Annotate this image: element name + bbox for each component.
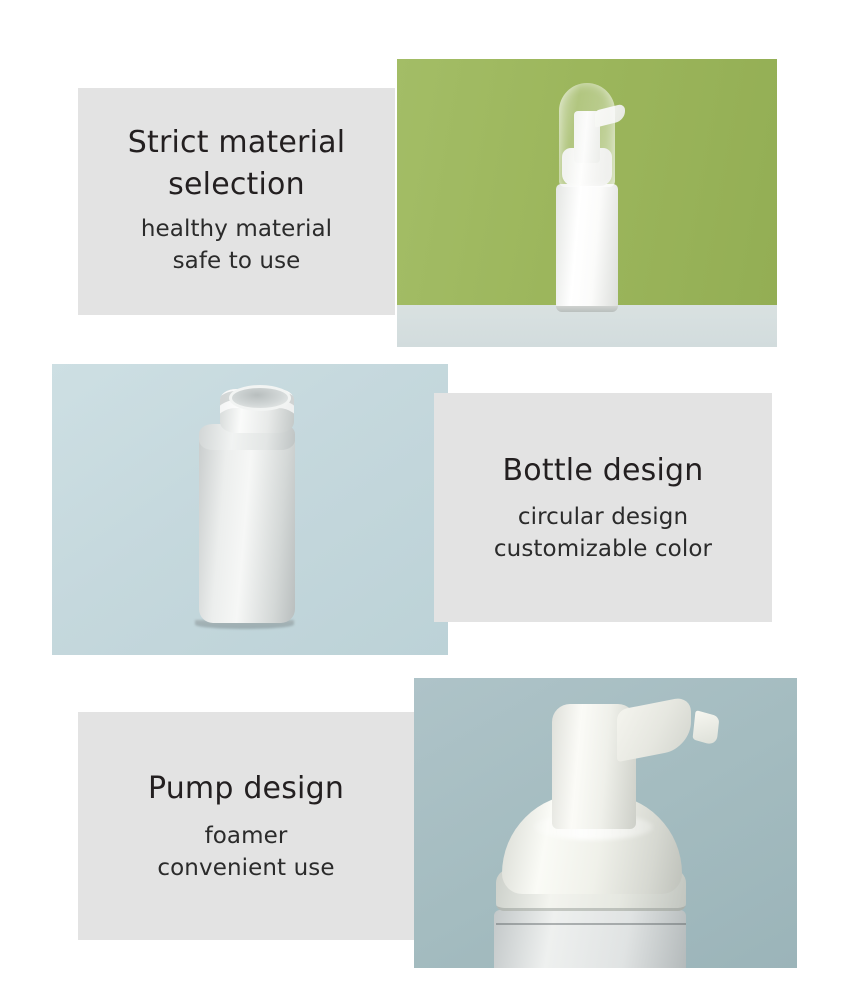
product-photo-foamer-bottle-green-background bbox=[397, 59, 777, 347]
feature-card-strict-material-selection: Strict material selection healthy materi… bbox=[78, 88, 395, 315]
photo3-seam-line bbox=[496, 923, 686, 925]
photo3-bottle-top bbox=[494, 910, 686, 968]
photo1-clear-overcap bbox=[559, 83, 615, 187]
feature-headline: Bottle design bbox=[503, 450, 704, 493]
feature-subline: healthy material bbox=[141, 213, 332, 245]
photo3-spout-opening bbox=[692, 710, 719, 746]
feature-subline: customizable color bbox=[494, 533, 712, 565]
photo1-bottle-base bbox=[556, 306, 618, 312]
feature-subline: circular design bbox=[518, 501, 688, 533]
feature-headline: Strict material selection bbox=[128, 122, 345, 207]
infographic-stage: Strict material selection healthy materi… bbox=[0, 0, 850, 1000]
photo2-bottle-opening bbox=[229, 385, 291, 411]
feature-subline: convenient use bbox=[157, 852, 334, 884]
product-photo-open-bottle-body-blue-background bbox=[52, 364, 448, 655]
product-photo-foamer-pump-head-closeup bbox=[414, 678, 797, 968]
photo1-bottle-body bbox=[556, 184, 618, 311]
photo2-bottle-body bbox=[199, 431, 295, 623]
feature-subline: safe to use bbox=[173, 245, 301, 277]
feature-card-bottle-design: Bottle design circular design customizab… bbox=[434, 393, 772, 622]
feature-headline: Pump design bbox=[148, 768, 344, 811]
feature-card-pump-design: Pump design foamer convenient use bbox=[78, 712, 414, 940]
feature-subline: foamer bbox=[205, 820, 288, 852]
